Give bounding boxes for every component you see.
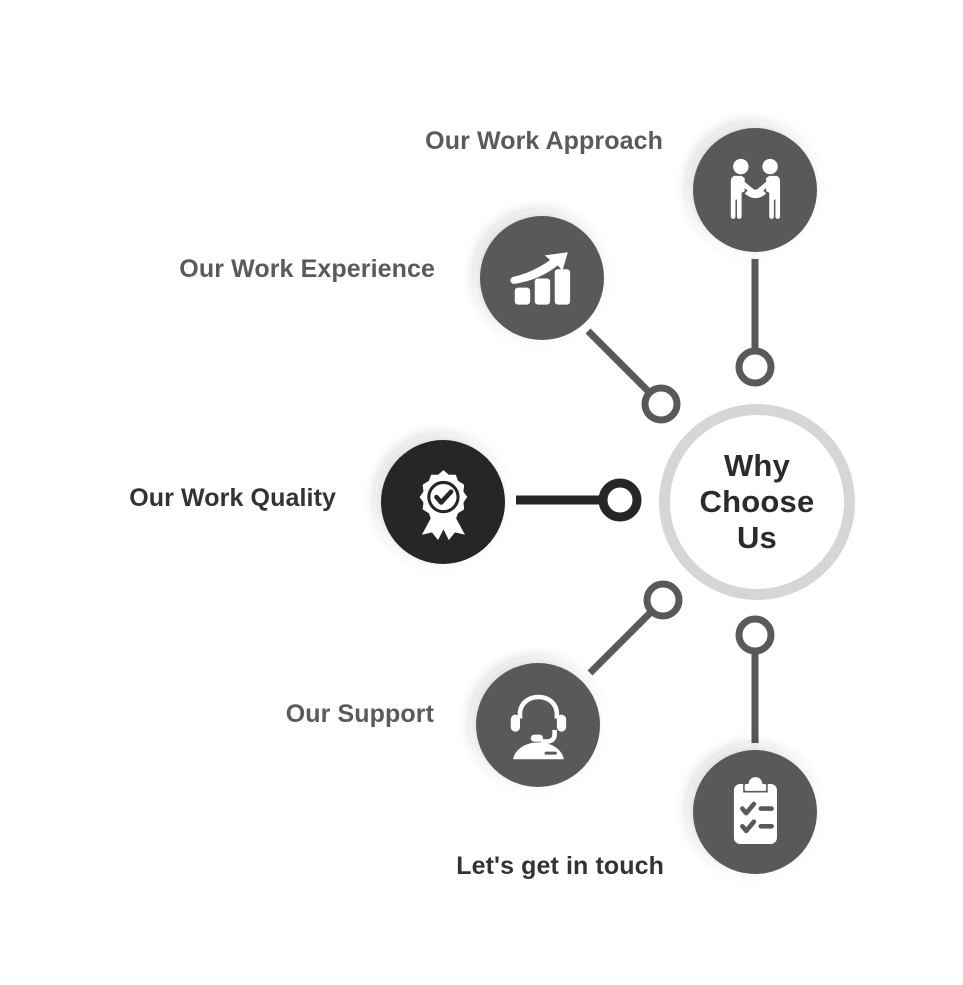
connector-ring-support (647, 584, 679, 616)
label-work-quality: Our Work Quality (129, 484, 336, 513)
quality-badge-icon (405, 464, 482, 541)
node-support[interactable] (476, 663, 600, 787)
node-work-approach[interactable] (693, 128, 817, 252)
connector-work-quality (516, 483, 637, 517)
connector-work-approach (739, 252, 771, 383)
connector-work-experience (588, 331, 677, 420)
connector-support (590, 584, 679, 673)
connector-ring-work-approach (739, 351, 771, 383)
connector-get-in-touch (739, 619, 771, 750)
label-work-approach: Our Work Approach (425, 127, 663, 156)
headset-support-icon (500, 687, 577, 764)
label-support: Our Support (286, 700, 434, 729)
hub-why-choose-us[interactable]: Why Choose Us (659, 404, 855, 600)
clipboard-checklist-icon (717, 774, 794, 851)
handshake-icon (717, 152, 794, 229)
growth-bar-chart-icon (504, 240, 581, 317)
label-get-in-touch: Let's get in touch (456, 852, 664, 881)
why-choose-us-diagram: Why Choose Us Our Work Approach Our (0, 0, 963, 985)
connector-ring-get-in-touch (739, 619, 771, 651)
node-get-in-touch[interactable] (693, 750, 817, 874)
label-work-experience: Our Work Experience (179, 255, 435, 284)
node-work-quality[interactable] (381, 440, 505, 564)
node-work-experience[interactable] (480, 216, 604, 340)
connector-ring-work-quality (603, 483, 637, 517)
connector-ring-work-experience (645, 388, 677, 420)
hub-title: Why Choose Us (700, 448, 815, 557)
